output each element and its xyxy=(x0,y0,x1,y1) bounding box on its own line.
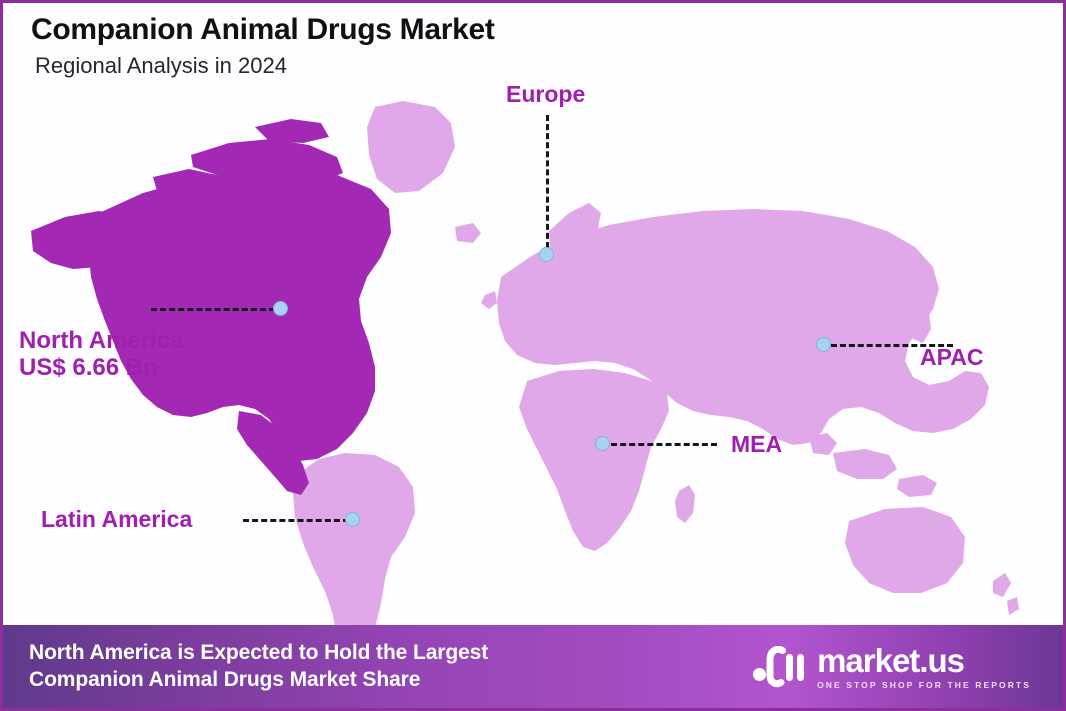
marker-apac[interactable] xyxy=(816,337,831,352)
logo-text-block: market.us ONE STOP SHOP FOR THE REPORTS xyxy=(817,644,1031,690)
region-label-apac: APAC xyxy=(920,345,983,371)
marker-north-america[interactable] xyxy=(273,301,288,316)
region-label-mea: MEA xyxy=(731,432,782,458)
region-label-europe: Europe xyxy=(506,82,585,108)
leader-line-latin-america xyxy=(243,519,349,522)
bottom-banner: North America is Expected to Hold the La… xyxy=(3,625,1063,708)
header: Companion Animal Drugs Market Regional A… xyxy=(31,13,495,78)
banner-line-2: Companion Animal Drugs Market Share xyxy=(29,667,488,694)
infographic-root: Companion Animal Drugs Market Regional A… xyxy=(0,0,1066,711)
map-other-regions xyxy=(271,101,1019,626)
page-subtitle: Regional Analysis in 2024 xyxy=(35,54,495,78)
leader-line-europe xyxy=(546,115,549,248)
map-region-north-america xyxy=(31,119,391,495)
region-value-north-america: US$ 6.66 Bn xyxy=(19,355,183,382)
leader-line-north-america xyxy=(151,308,275,311)
region-label-latin-america: Latin America xyxy=(41,507,192,533)
logo-wordmark: market.us xyxy=(817,644,964,677)
market-us-logo[interactable]: market.us ONE STOP SHOP FOR THE REPORTS xyxy=(752,644,1031,690)
marker-mea[interactable] xyxy=(595,436,610,451)
banner-text: North America is Expected to Hold the La… xyxy=(29,640,488,694)
region-label-north-america: North America US$ 6.66 Bn xyxy=(19,328,183,382)
logo-tagline: ONE STOP SHOP FOR THE REPORTS xyxy=(817,680,1031,690)
banner-line-1: North America is Expected to Hold the La… xyxy=(29,640,488,667)
marker-europe[interactable] xyxy=(539,247,554,262)
page-title: Companion Animal Drugs Market xyxy=(31,13,495,46)
leader-line-mea xyxy=(611,443,717,446)
marker-latin-america[interactable] xyxy=(345,512,360,527)
market-us-logo-mark xyxy=(752,646,808,688)
region-name-north-america: North America xyxy=(19,328,183,355)
